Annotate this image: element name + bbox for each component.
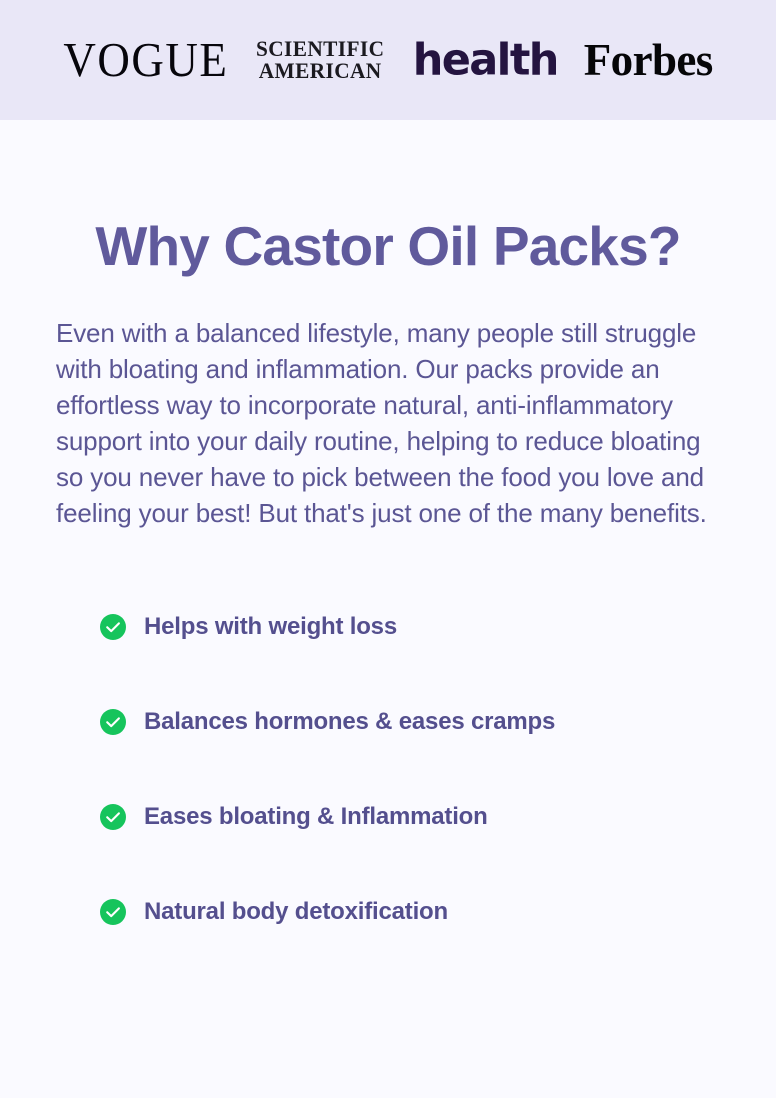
list-item: Helps with weight loss bbox=[100, 601, 720, 653]
intro-paragraph: Even with a balanced lifestyle, many peo… bbox=[56, 316, 720, 531]
check-circle-icon bbox=[100, 899, 126, 925]
list-item: Balances hormones & eases cramps bbox=[100, 696, 720, 748]
benefit-label: Balances hormones & eases cramps bbox=[144, 710, 555, 734]
benefit-label: Natural body detoxification bbox=[144, 900, 448, 924]
forbes-logo: Forbes bbox=[584, 38, 713, 83]
vogue-logo: VOGUE bbox=[63, 36, 228, 85]
check-circle-icon bbox=[100, 614, 126, 640]
scientific-american-logo: SCIENTIFIC AMERICAN bbox=[256, 38, 384, 83]
scientific-american-logo-line2: AMERICAN bbox=[256, 60, 384, 82]
health-logo: health bbox=[413, 38, 558, 82]
page-title: Why Castor Oil Packs? bbox=[56, 217, 720, 276]
main-content: Why Castor Oil Packs? Even with a balanc… bbox=[0, 217, 776, 938]
benefit-label: Helps with weight loss bbox=[144, 615, 397, 639]
scientific-american-logo-line1: SCIENTIFIC bbox=[256, 38, 384, 60]
benefit-label: Eases bloating & Inflammation bbox=[144, 805, 488, 829]
check-circle-icon bbox=[100, 709, 126, 735]
check-circle-icon bbox=[100, 804, 126, 830]
benefits-list: Helps with weight loss Balances hormones… bbox=[56, 601, 720, 938]
press-logo-bar: VOGUE SCIENTIFIC AMERICAN health Forbes bbox=[0, 0, 776, 120]
list-item: Eases bloating & Inflammation bbox=[100, 791, 720, 843]
list-item: Natural body detoxification bbox=[100, 886, 720, 938]
